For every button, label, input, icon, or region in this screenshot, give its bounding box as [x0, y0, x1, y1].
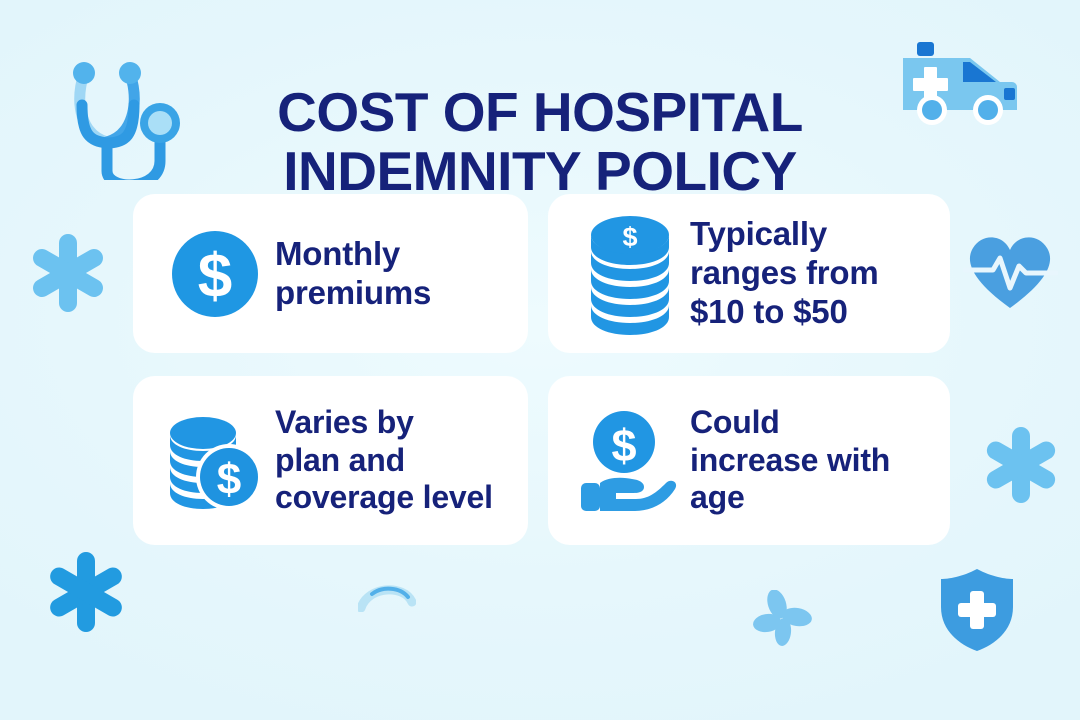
card-monthly-premiums[interactable]: $ Monthly premiums	[133, 194, 528, 353]
card-label: Could increase with age	[690, 404, 950, 517]
asterisk-icon-left-bottom	[45, 550, 127, 634]
coin-stack-icon: $	[576, 213, 684, 335]
card-varies-by-plan[interactable]: $ Varies by plan and coverage level	[133, 376, 528, 545]
dollar-coin-icon: $	[161, 229, 269, 319]
infographic-canvas: COST OF HOSPITAL INDEMNITY POLICY $ Mont…	[0, 0, 1080, 720]
card-label: Varies by plan and coverage level	[275, 404, 528, 517]
medical-shield-icon	[932, 565, 1022, 655]
asterisk-icon-left-top	[28, 232, 108, 314]
arc-icon	[358, 578, 416, 612]
card-label: Typically ranges from $10 to $50	[690, 215, 879, 332]
card-label: Monthly premiums	[275, 235, 431, 313]
svg-text:$: $	[622, 222, 637, 252]
page-title-line-2: INDEMNITY POLICY	[0, 142, 1080, 201]
page-title: COST OF HOSPITAL INDEMNITY POLICY	[0, 83, 1080, 202]
svg-text:$: $	[217, 455, 241, 504]
card-typical-range[interactable]: $ Typically ranges from $10 to $50	[548, 194, 950, 353]
svg-text:$: $	[611, 420, 636, 471]
asterisk-icon-right	[982, 425, 1060, 505]
page-title-line-1: COST OF HOSPITAL	[0, 83, 1080, 142]
heartbeat-icon	[963, 228, 1058, 313]
card-increase-with-age[interactable]: $ Could increase with age	[548, 376, 950, 545]
butterfly-icon	[752, 590, 814, 648]
coin-stack-with-dollar-coin-icon: $	[161, 409, 269, 513]
hand-holding-coin-icon: $	[576, 409, 684, 513]
svg-text:$: $	[198, 242, 232, 311]
